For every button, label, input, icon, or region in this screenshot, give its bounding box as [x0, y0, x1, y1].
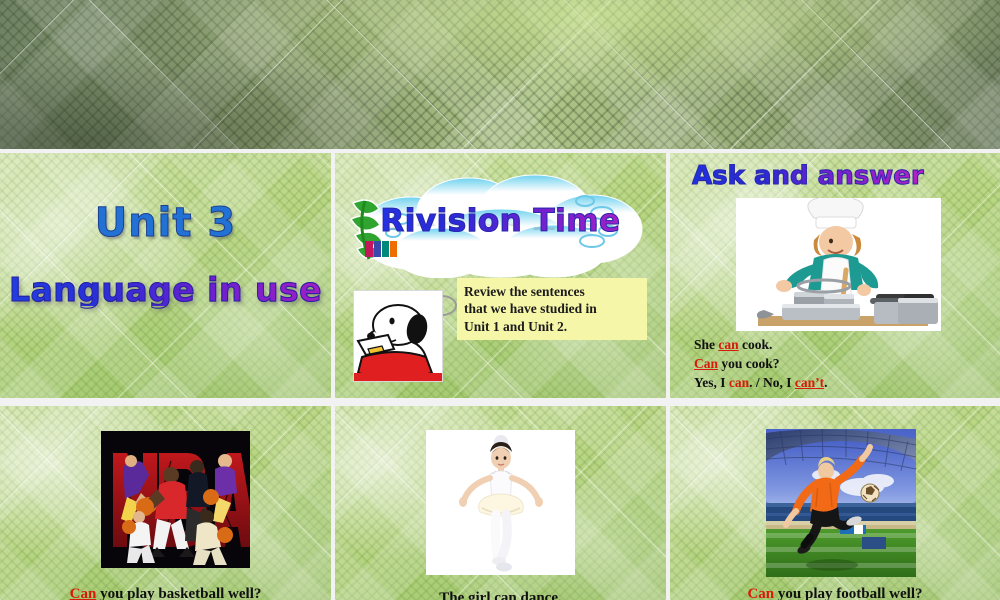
football-illustration [766, 429, 916, 577]
slide-basketball[interactable]: Can you play basketball well? [0, 406, 331, 600]
sentence-part: Yes, I [694, 375, 729, 390]
sentence-keyword: Can [747, 586, 774, 600]
review-note-box: Review the sentences that we have studie… [457, 278, 647, 340]
slide-revision[interactable]: Rivision Time Rivision Time [335, 153, 666, 398]
girl-ballet-dancer-image [426, 430, 575, 575]
ballet-illustration [426, 430, 575, 575]
note-line-2: that we have studied in [464, 300, 641, 317]
sentence-keyword: can [729, 375, 749, 390]
sentence-part: . / No, I [749, 375, 795, 390]
slide-thumbnail-page: Unit 3 Language in use [0, 0, 1000, 600]
sentence-part: The girl can dance. [439, 590, 562, 600]
snoopy-typing-image [353, 290, 443, 382]
slide-heading: Ask and answer [692, 163, 924, 189]
sentence-part: . [824, 375, 827, 390]
sentence-part: She [694, 337, 718, 352]
sentence-line: The girl can dance. [335, 588, 666, 600]
sentence-keyword: Can [70, 586, 97, 600]
nba-basketball-players-image [101, 431, 250, 568]
slide-football[interactable]: Can you play football well? [670, 406, 1000, 600]
sentence-keyword: can [718, 337, 738, 352]
sentence-part: you play football well? [774, 586, 922, 600]
note-line-3: Unit 1 and Unit 2. [464, 318, 641, 335]
page-title: Unit 3 [0, 203, 331, 243]
sentence-part: you cook? [718, 356, 780, 371]
sentence-part: cook. [739, 337, 773, 352]
sentence-keyword: Can [694, 356, 718, 371]
sentence-line-1: She can cook. [694, 335, 772, 354]
sentence-part: you play basketball well? [96, 586, 261, 600]
snoopy-illustration [354, 291, 442, 381]
note-line-1: Review the sentences [464, 283, 641, 300]
sentence-line-2: Can you cook? [694, 354, 780, 373]
sentence-keyword: can’t [795, 375, 824, 390]
slide-dance[interactable]: The girl can dance. [335, 406, 666, 600]
sentence-line: Can you play football well? [670, 584, 1000, 600]
page-subtitle: Language in use [0, 273, 331, 306]
girl-chef-cooking-image [736, 198, 941, 331]
title-banner [0, 0, 1000, 149]
chef-illustration [736, 198, 941, 331]
banner-background [0, 0, 1000, 149]
nba-illustration [101, 431, 250, 568]
football-player-kicking-image [766, 429, 916, 577]
slide-title[interactable]: Unit 3 Language in use [0, 153, 331, 398]
sentence-line-3: Yes, I can. / No, I can’t. [694, 373, 828, 392]
sentence-line: Can you play basketball well? [0, 584, 331, 600]
slide-ask-and-answer[interactable]: Ask and answer Ask and answer [670, 153, 1000, 398]
cloud-title: Rivision Time [345, 206, 656, 237]
